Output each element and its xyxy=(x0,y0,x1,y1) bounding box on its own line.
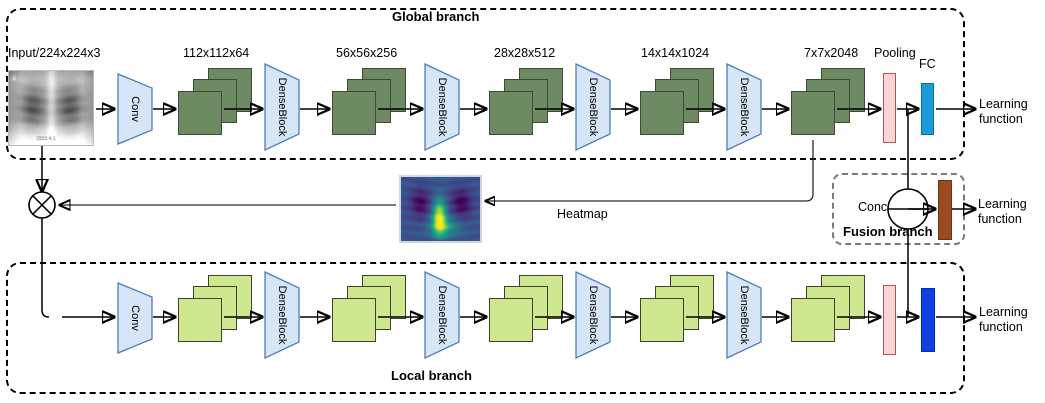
global-feature-stack-5 xyxy=(791,68,869,138)
local-denseblock-label-4: DenseBlock xyxy=(738,286,750,345)
global-dims-3: 28x28x512 xyxy=(494,46,555,60)
local-denseblock-2: DenseBlock xyxy=(425,272,459,358)
input-xray-image xyxy=(8,70,94,146)
global-output-line2: function xyxy=(979,112,1028,127)
local-denseblock-label-1: DenseBlock xyxy=(276,286,288,345)
global-dims-5: 7x7x2048 xyxy=(804,46,858,60)
global-feature-stack-4 xyxy=(640,68,718,138)
local-denseblock-label-2: DenseBlock xyxy=(436,286,448,345)
global-feature-stack-1 xyxy=(178,68,256,138)
local-denseblock-3: DenseBlock xyxy=(576,272,610,358)
local-denseblock-label-3: DenseBlock xyxy=(587,286,599,345)
heatmap-image xyxy=(399,175,482,243)
local-feature-stack-3 xyxy=(489,275,567,345)
local-fc-bar xyxy=(921,288,935,352)
local-conv-block: Conv xyxy=(118,283,152,353)
local-output-line1: Learning xyxy=(979,305,1028,320)
concat-label: Concat xyxy=(858,200,898,214)
global-denseblock-label-2: DenseBlock xyxy=(436,78,448,137)
global-dims-2: 56x56x256 xyxy=(336,46,397,60)
fusion-output-line1: Learning xyxy=(978,197,1027,212)
global-denseblock-1: DenseBlock xyxy=(265,64,299,150)
local-output-label: Learning function xyxy=(979,305,1028,335)
local-conv-label: Conv xyxy=(129,305,141,331)
global-feature-stack-2 xyxy=(332,68,410,138)
local-denseblock-1: DenseBlock xyxy=(265,272,299,358)
global-denseblock-label-1: DenseBlock xyxy=(276,78,288,137)
global-dims-4: 14x14x1024 xyxy=(641,46,709,60)
global-pooling-bar xyxy=(883,73,896,143)
global-denseblock-3: DenseBlock xyxy=(576,64,610,150)
global-denseblock-2: DenseBlock xyxy=(425,64,459,150)
fusion-output-line2: function xyxy=(978,212,1027,227)
global-fc-bar xyxy=(921,83,934,135)
global-conv-label: Conv xyxy=(129,96,141,122)
fusion-output-label: Learning function xyxy=(978,197,1027,227)
local-denseblock-4: DenseBlock xyxy=(727,272,761,358)
architecture-diagram: Global branch Local branch Fusion branch… xyxy=(0,0,1045,403)
global-denseblock-label-4: DenseBlock xyxy=(738,78,750,137)
global-pooling-label: Pooling xyxy=(874,46,916,60)
global-input-label: Input/224x224x3 xyxy=(8,46,100,60)
local-pooling-bar xyxy=(883,285,896,355)
global-dims-1: 112x112x64 xyxy=(183,46,249,60)
global-output-label: Learning function xyxy=(979,97,1028,127)
global-conv-block: Conv xyxy=(118,74,152,144)
global-denseblock-4: DenseBlock xyxy=(727,64,761,150)
fusion-output-bar xyxy=(938,180,952,240)
global-feature-stack-3 xyxy=(489,68,567,138)
local-branch-title: Local branch xyxy=(386,369,477,384)
local-output-line2: function xyxy=(979,320,1028,335)
global-denseblock-label-3: DenseBlock xyxy=(587,78,599,137)
heatmap-label: Heatmap xyxy=(557,207,608,221)
global-branch-title: Global branch xyxy=(387,10,484,25)
local-feature-stack-4 xyxy=(640,275,718,345)
global-output-line1: Learning xyxy=(979,97,1028,112)
global-fc-label: FC xyxy=(919,57,936,71)
local-feature-stack-2 xyxy=(332,275,410,345)
local-feature-stack-5 xyxy=(791,275,869,345)
local-feature-stack-1 xyxy=(178,275,256,345)
fusion-branch-title: Fusion branch xyxy=(840,225,936,240)
